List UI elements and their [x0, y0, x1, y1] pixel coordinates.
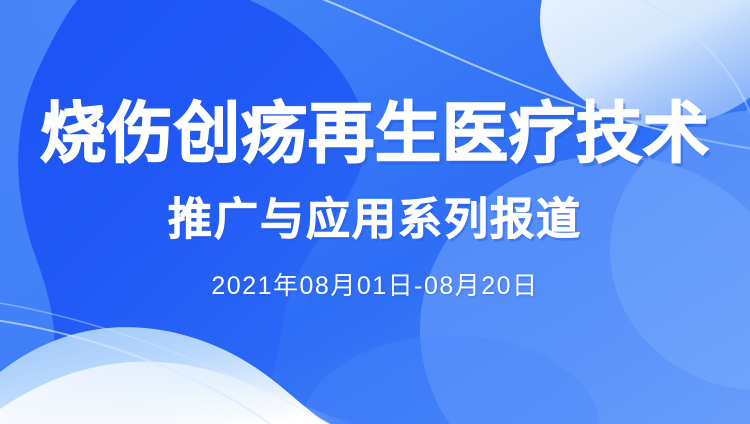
banner-text-stack: 烧伤创疡再生医疗技术 推广与应用系列报道 2021年08月01日-08月20日: [0, 0, 750, 424]
banner-main-title: 烧伤创疡再生医疗技术: [40, 100, 710, 166]
promo-banner: 烧伤创疡再生医疗技术 推广与应用系列报道 2021年08月01日-08月20日: [0, 0, 750, 424]
banner-sub-title: 推广与应用系列报道: [168, 198, 582, 242]
banner-date-range: 2021年08月01日-08月20日: [211, 274, 538, 299]
